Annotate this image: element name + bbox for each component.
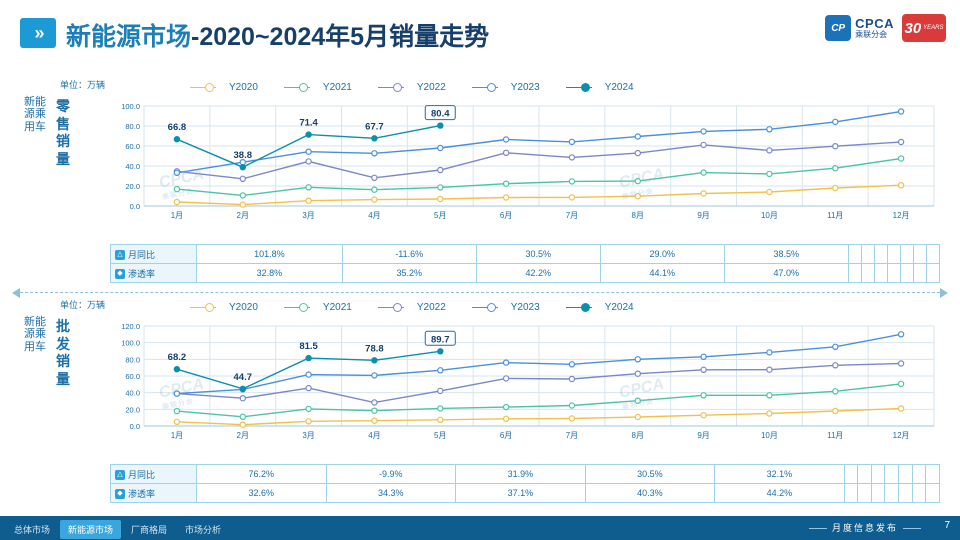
table-cell xyxy=(912,465,926,484)
anniversary-number: 30 xyxy=(904,20,921,37)
svg-text:0.0: 0.0 xyxy=(130,422,140,431)
svg-text:10月: 10月 xyxy=(761,211,778,220)
cpca-logo: CP CPCA 乘联分会 xyxy=(825,15,894,41)
legend-label: Y2020 xyxy=(229,82,258,93)
footer-tabs: 总体市场新能源市场厂商格局市场分析 xyxy=(6,520,229,539)
table-cell: -11.6% xyxy=(342,245,476,264)
svg-text:20.0: 20.0 xyxy=(125,182,140,191)
table-cell xyxy=(848,264,861,283)
table-cell: 44.2% xyxy=(715,484,845,503)
svg-text:80.4: 80.4 xyxy=(431,109,450,120)
svg-text:7月: 7月 xyxy=(566,211,578,220)
legend-item-Y2023: Y2023 xyxy=(472,82,540,93)
table-cell: 32.6% xyxy=(197,484,327,503)
svg-text:81.5: 81.5 xyxy=(299,341,318,352)
svg-text:60.0: 60.0 xyxy=(125,372,140,381)
svg-text:12月: 12月 xyxy=(893,211,910,220)
svg-text:60.0: 60.0 xyxy=(125,142,140,151)
legend-item-Y2024: Y2024 xyxy=(566,82,634,93)
legend-marker xyxy=(205,303,214,312)
footer-tab-厂商格局[interactable]: 厂商格局 xyxy=(123,520,175,539)
svg-text:66.8: 66.8 xyxy=(168,122,187,133)
table-cell xyxy=(871,465,885,484)
svg-text:120.0: 120.0 xyxy=(121,322,140,331)
svg-text:2月: 2月 xyxy=(237,431,249,440)
svg-text:40.0: 40.0 xyxy=(125,162,140,171)
retail-side-metric: 零售销量 xyxy=(52,98,74,168)
svg-text:5月: 5月 xyxy=(434,211,446,220)
table-cell xyxy=(848,245,861,264)
svg-text:80.0: 80.0 xyxy=(125,355,140,364)
table-cell xyxy=(887,245,900,264)
retail-unit-label: 单位：万辆 xyxy=(60,78,105,91)
table-cell: 47.0% xyxy=(724,264,848,283)
svg-text:67.7: 67.7 xyxy=(365,121,384,132)
retail-legend: Y2020Y2021Y2022Y2023Y2024 xyxy=(190,82,634,93)
legend-label: Y2024 xyxy=(605,82,634,93)
row-icon: ◆ xyxy=(115,489,125,499)
table-cell xyxy=(858,484,872,503)
table-cell xyxy=(861,264,874,283)
table-cell: 40.3% xyxy=(585,484,715,503)
footer-tab-新能源市场[interactable]: 新能源市场 xyxy=(60,520,121,539)
svg-text:1月: 1月 xyxy=(171,211,183,220)
table-cell xyxy=(871,484,885,503)
row-icon: △ xyxy=(115,470,125,480)
legend-item-Y2020: Y2020 xyxy=(190,82,258,93)
table-cell xyxy=(887,264,900,283)
table-cell: 32.8% xyxy=(197,264,343,283)
page-number: 7 xyxy=(944,520,950,531)
legend-marker xyxy=(205,83,214,92)
svg-text:5月: 5月 xyxy=(434,431,446,440)
svg-text:40.0: 40.0 xyxy=(125,389,140,398)
anniversary-badge: 30YEARS xyxy=(902,14,946,42)
legend-marker xyxy=(299,303,308,312)
table-cell: 101.8% xyxy=(197,245,343,264)
table-cell xyxy=(899,465,913,484)
footer-tab-总体市场[interactable]: 总体市场 xyxy=(6,520,58,539)
double-chevron-right-icon: » xyxy=(20,18,56,48)
wholesale-panel: 单位：万辆 新能源乘用车 批发销量 Y2020Y2021Y2022Y2023Y2… xyxy=(0,298,960,508)
table-cell xyxy=(874,245,887,264)
svg-text:11月: 11月 xyxy=(827,211,843,220)
wholesale-data-table: △月同比76.2%-9.9%31.9%30.5%32.1%◆渗透率32.6%34… xyxy=(110,464,940,503)
legend-label: Y2021 xyxy=(323,82,352,93)
cpca-mark-icon: CP xyxy=(825,15,851,41)
svg-text:20.0: 20.0 xyxy=(125,405,140,414)
legend-label: Y2024 xyxy=(605,302,634,313)
svg-text:4月: 4月 xyxy=(368,211,380,220)
svg-text:9月: 9月 xyxy=(697,431,709,440)
table-cell xyxy=(844,465,858,484)
table-cell: 29.0% xyxy=(600,245,724,264)
wholesale-chart: 0.020.040.060.080.0100.0120.01月2月3月4月5月6… xyxy=(110,320,940,444)
legend-marker xyxy=(299,83,308,92)
legend-marker xyxy=(581,83,590,92)
table-cell: 37.1% xyxy=(456,484,586,503)
table-cell: 30.5% xyxy=(476,245,600,264)
svg-text:12月: 12月 xyxy=(893,431,910,440)
wholesale-side-label: 新能源乘用车 xyxy=(22,316,48,353)
svg-text:3月: 3月 xyxy=(302,431,314,440)
row-header: ◆渗透率 xyxy=(111,264,197,283)
wholesale-unit-label: 单位：万辆 xyxy=(60,298,105,311)
legend-item-Y2021: Y2021 xyxy=(284,82,352,93)
svg-text:100.0: 100.0 xyxy=(121,339,140,348)
page-header: » 新能源市场-2020~2024年5月销量走势 CP CPCA 乘联分会 30… xyxy=(0,0,960,62)
table-cell: 32.1% xyxy=(715,465,845,484)
retail-panel: 单位：万辆 新能源乘用车 零售销量 Y2020Y2021Y2022Y2023Y2… xyxy=(0,78,960,288)
page-title: 新能源市场-2020~2024年5月销量走势 xyxy=(66,17,489,53)
legend-marker xyxy=(393,303,402,312)
row-header: △月同比 xyxy=(111,245,197,264)
legend-item-Y2024: Y2024 xyxy=(566,302,634,313)
table-cell xyxy=(844,484,858,503)
legend-marker xyxy=(393,83,402,92)
table-cell xyxy=(926,245,939,264)
table-row: ◆渗透率32.6%34.3%37.1%40.3%44.2% xyxy=(111,484,940,503)
logo-group: CP CPCA 乘联分会 30YEARS xyxy=(825,14,946,42)
table-cell xyxy=(926,264,939,283)
row-icon: △ xyxy=(115,250,125,260)
svg-text:2月: 2月 xyxy=(237,211,249,220)
svg-text:71.4: 71.4 xyxy=(299,118,318,129)
arrow-left-icon xyxy=(12,288,20,298)
retail-chart: 0.020.040.060.080.0100.01月2月3月4月5月6月7月8月… xyxy=(110,100,940,224)
legend-label: Y2020 xyxy=(229,302,258,313)
retail-side-label: 新能源乘用车 xyxy=(22,96,48,133)
table-cell xyxy=(874,264,887,283)
legend-item-Y2021: Y2021 xyxy=(284,302,352,313)
wholesale-legend: Y2020Y2021Y2022Y2023Y2024 xyxy=(190,302,634,313)
page-title-main: 新能源市场 xyxy=(66,23,191,51)
svg-text:1月: 1月 xyxy=(171,431,183,440)
table-row: ◆渗透率32.8%35.2%42.2%44.1%47.0% xyxy=(111,264,940,283)
table-cell xyxy=(926,465,940,484)
table-cell xyxy=(885,465,899,484)
svg-text:6月: 6月 xyxy=(500,431,512,440)
table-cell: 31.9% xyxy=(456,465,586,484)
table-cell xyxy=(912,484,926,503)
table-cell: 34.3% xyxy=(326,484,456,503)
svg-text:6月: 6月 xyxy=(500,211,512,220)
svg-text:11月: 11月 xyxy=(827,431,843,440)
retail-data-table: △月同比101.8%-11.6%30.5%29.0%38.5%◆渗透率32.8%… xyxy=(110,244,940,283)
legend-label: Y2023 xyxy=(511,82,540,93)
svg-text:3月: 3月 xyxy=(302,211,314,220)
svg-text:10月: 10月 xyxy=(761,431,778,440)
table-cell xyxy=(900,264,913,283)
legend-marker xyxy=(487,83,496,92)
panel-divider xyxy=(20,292,940,293)
table-cell xyxy=(858,465,872,484)
svg-text:7月: 7月 xyxy=(566,431,578,440)
table-cell xyxy=(926,484,940,503)
table-cell: 42.2% xyxy=(476,264,600,283)
svg-text:38.8: 38.8 xyxy=(234,150,253,161)
table-cell: 44.1% xyxy=(600,264,724,283)
legend-label: Y2023 xyxy=(511,302,540,313)
svg-text:44.7: 44.7 xyxy=(234,372,253,383)
svg-text:9月: 9月 xyxy=(697,211,709,220)
legend-item-Y2023: Y2023 xyxy=(472,302,540,313)
legend-label: Y2022 xyxy=(417,82,446,93)
legend-label: Y2022 xyxy=(417,302,446,313)
table-row: △月同比101.8%-11.6%30.5%29.0%38.5% xyxy=(111,245,940,264)
table-cell xyxy=(900,245,913,264)
row-header: ◆渗透率 xyxy=(111,484,197,503)
arrow-right-icon xyxy=(940,288,948,298)
svg-text:8月: 8月 xyxy=(632,211,644,220)
table-cell xyxy=(861,245,874,264)
svg-text:0.0: 0.0 xyxy=(130,202,140,211)
row-icon: ◆ xyxy=(115,269,125,279)
svg-text:78.8: 78.8 xyxy=(365,343,384,354)
anniversary-sub: YEARS xyxy=(923,25,943,31)
table-cell: -9.9% xyxy=(326,465,456,484)
legend-marker xyxy=(487,303,496,312)
svg-text:68.2: 68.2 xyxy=(168,352,187,363)
table-cell: 76.2% xyxy=(197,465,327,484)
page-title-sub: -2020~2024年5月销量走势 xyxy=(191,23,489,51)
legend-item-Y2022: Y2022 xyxy=(378,82,446,93)
legend-label: Y2021 xyxy=(323,302,352,313)
table-cell: 35.2% xyxy=(342,264,476,283)
svg-text:89.7: 89.7 xyxy=(431,334,450,345)
wholesale-side-metric: 批发销量 xyxy=(52,318,74,388)
footer-right-label: 月度信息发布 xyxy=(832,523,898,533)
footer-tab-市场分析[interactable]: 市场分析 xyxy=(177,520,229,539)
page-footer: 总体市场新能源市场厂商格局市场分析 月度信息发布 7 xyxy=(0,516,960,540)
legend-item-Y2020: Y2020 xyxy=(190,302,258,313)
svg-text:8月: 8月 xyxy=(632,431,644,440)
svg-text:4月: 4月 xyxy=(368,431,380,440)
table-cell xyxy=(899,484,913,503)
table-cell xyxy=(913,245,926,264)
table-cell xyxy=(885,484,899,503)
legend-marker xyxy=(581,303,590,312)
svg-text:80.0: 80.0 xyxy=(125,122,140,131)
table-row: △月同比76.2%-9.9%31.9%30.5%32.1% xyxy=(111,465,940,484)
row-header: △月同比 xyxy=(111,465,197,484)
svg-text:100.0: 100.0 xyxy=(121,102,140,111)
table-cell: 30.5% xyxy=(585,465,715,484)
legend-item-Y2022: Y2022 xyxy=(378,302,446,313)
cpca-logo-sub: 乘联分会 xyxy=(855,31,894,39)
table-cell: 38.5% xyxy=(724,245,848,264)
footer-right-text: 月度信息发布 xyxy=(804,521,926,534)
table-cell xyxy=(913,264,926,283)
cpca-logo-name: CPCA xyxy=(855,17,894,31)
